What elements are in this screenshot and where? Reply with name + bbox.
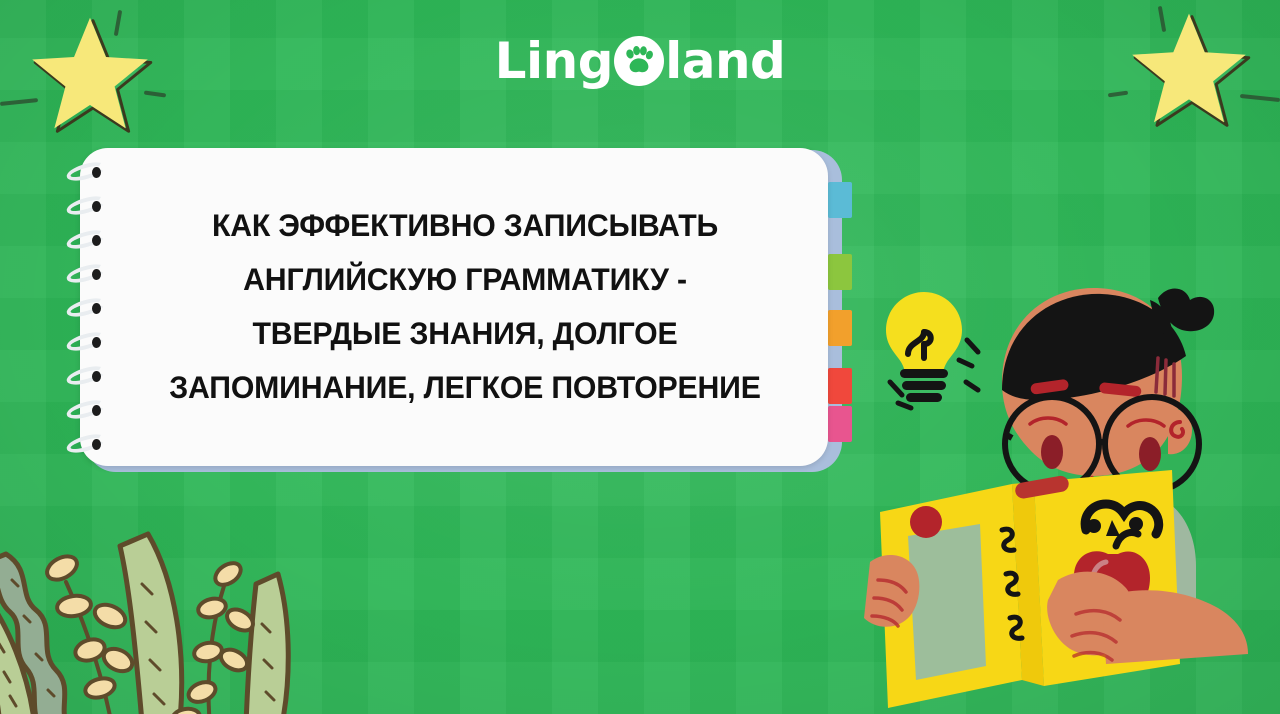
book-red-dot	[910, 506, 942, 538]
spiral-coil	[66, 436, 112, 451]
lightbulb-idea-icon	[886, 292, 962, 402]
spiral-coil	[66, 300, 112, 315]
notebook-card: КАК ЭФФЕКТИВНО ЗАПИСЫВАТЬ АНГЛИЙСКУЮ ГРА…	[80, 148, 828, 466]
spiral-coil	[66, 334, 112, 349]
book-left-page-panel	[908, 524, 986, 680]
headline-text: КАК ЭФФЕКТИВНО ЗАПИСЫВАТЬ АНГЛИЙСКУЮ ГРА…	[130, 198, 800, 414]
spiral-coil	[66, 198, 112, 213]
tab-green[interactable]	[828, 254, 852, 290]
spiral-coil	[66, 368, 112, 383]
logo-text-right: land	[665, 36, 785, 86]
boy-reading-illustration	[862, 262, 1280, 714]
leaf	[120, 534, 182, 714]
spiral-coil	[66, 402, 112, 417]
spiral-coil	[66, 266, 112, 281]
tab-orange[interactable]	[828, 310, 852, 346]
tab-blue[interactable]	[828, 182, 852, 218]
notebook-spiral-binding	[66, 160, 118, 460]
eye-left	[1041, 435, 1063, 469]
poster-canvas: Ling land КАК ЭФФЕКТИВНО ЗАПИСЫВАТЬ АНГЛ…	[0, 0, 1280, 714]
foliage-bottom-left	[0, 474, 330, 714]
spiral-coil	[66, 164, 112, 179]
headline-line-1: КАК ЭФФЕКТИВНО ЗАПИСЫВАТЬ	[130, 198, 800, 252]
forearm-right	[1102, 590, 1248, 664]
logo-text-left: Ling	[495, 36, 613, 86]
paw-print-icon	[614, 36, 664, 86]
tab-red[interactable]	[828, 368, 852, 404]
headline-line-2: АНГЛИЙСКУЮ ГРАММАТИКУ -	[130, 252, 800, 306]
eye-right	[1139, 437, 1161, 471]
headline-line-3: ТВЕРДЫЕ ЗНАНИЯ, ДОЛГОЕ	[130, 306, 800, 360]
spiral-coil	[66, 232, 112, 247]
tab-pink[interactable]	[828, 406, 852, 442]
brand-logo[interactable]: Ling land	[0, 30, 1280, 92]
notebook-color-tabs	[828, 150, 852, 472]
headline-line-4: ЗАПОМИНАНИЕ, ЛЕГКОЕ ПОВТОРЕНИЕ	[130, 360, 800, 414]
